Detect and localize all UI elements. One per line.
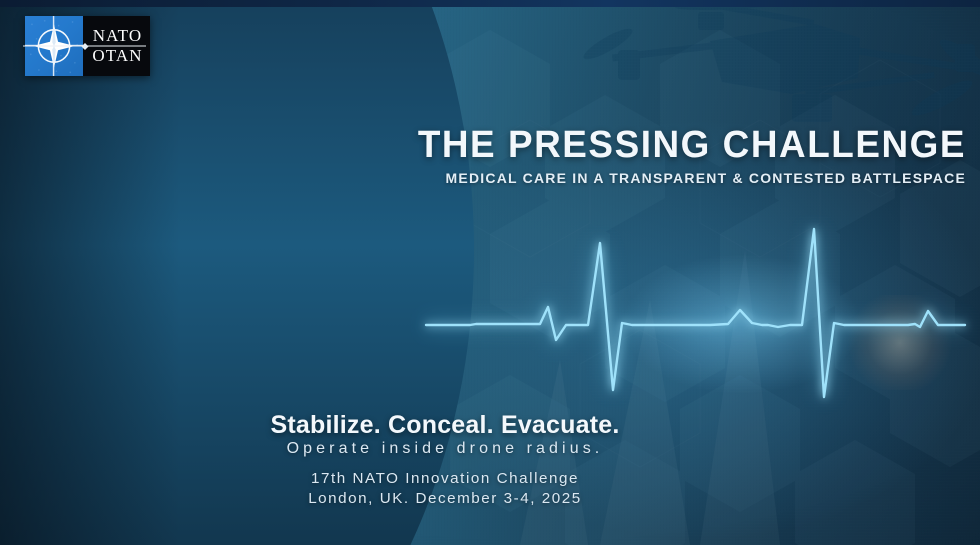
headline-block: THE PRESSING CHALLENGE MEDICAL CARE IN A… [0, 126, 966, 187]
event-name: 17th NATO Innovation Challenge [0, 469, 890, 489]
nato-word-nato: NATO [93, 26, 142, 46]
nato-wordmark: NATO OTAN [83, 16, 150, 76]
event-details: 17th NATO Innovation Challenge London, U… [0, 469, 890, 509]
page-subtitle: MEDICAL CARE IN A TRANSPARENT & CONTESTE… [14, 171, 966, 187]
nato-divider [23, 46, 146, 47]
poster-canvas: NATO OTAN THE PRESSING CHALLENGE MEDICAL… [0, 0, 980, 545]
tagline-primary: Stabilize. Conceal. Evacuate. [0, 412, 890, 439]
page-title: THE PRESSING CHALLENGE [29, 126, 966, 164]
ecg-heartbeat-line [410, 215, 980, 415]
nato-logo: NATO OTAN [25, 16, 150, 76]
nato-word-otan: OTAN [92, 46, 142, 66]
tagline-secondary: Operate inside drone radius. [0, 440, 890, 458]
drone-icon [560, 0, 980, 136]
top-accent-strip [0, 0, 980, 7]
tagline-block: Stabilize. Conceal. Evacuate. Operate in… [0, 412, 890, 509]
event-location-date: London, UK. December 3-4, 2025 [0, 489, 890, 509]
